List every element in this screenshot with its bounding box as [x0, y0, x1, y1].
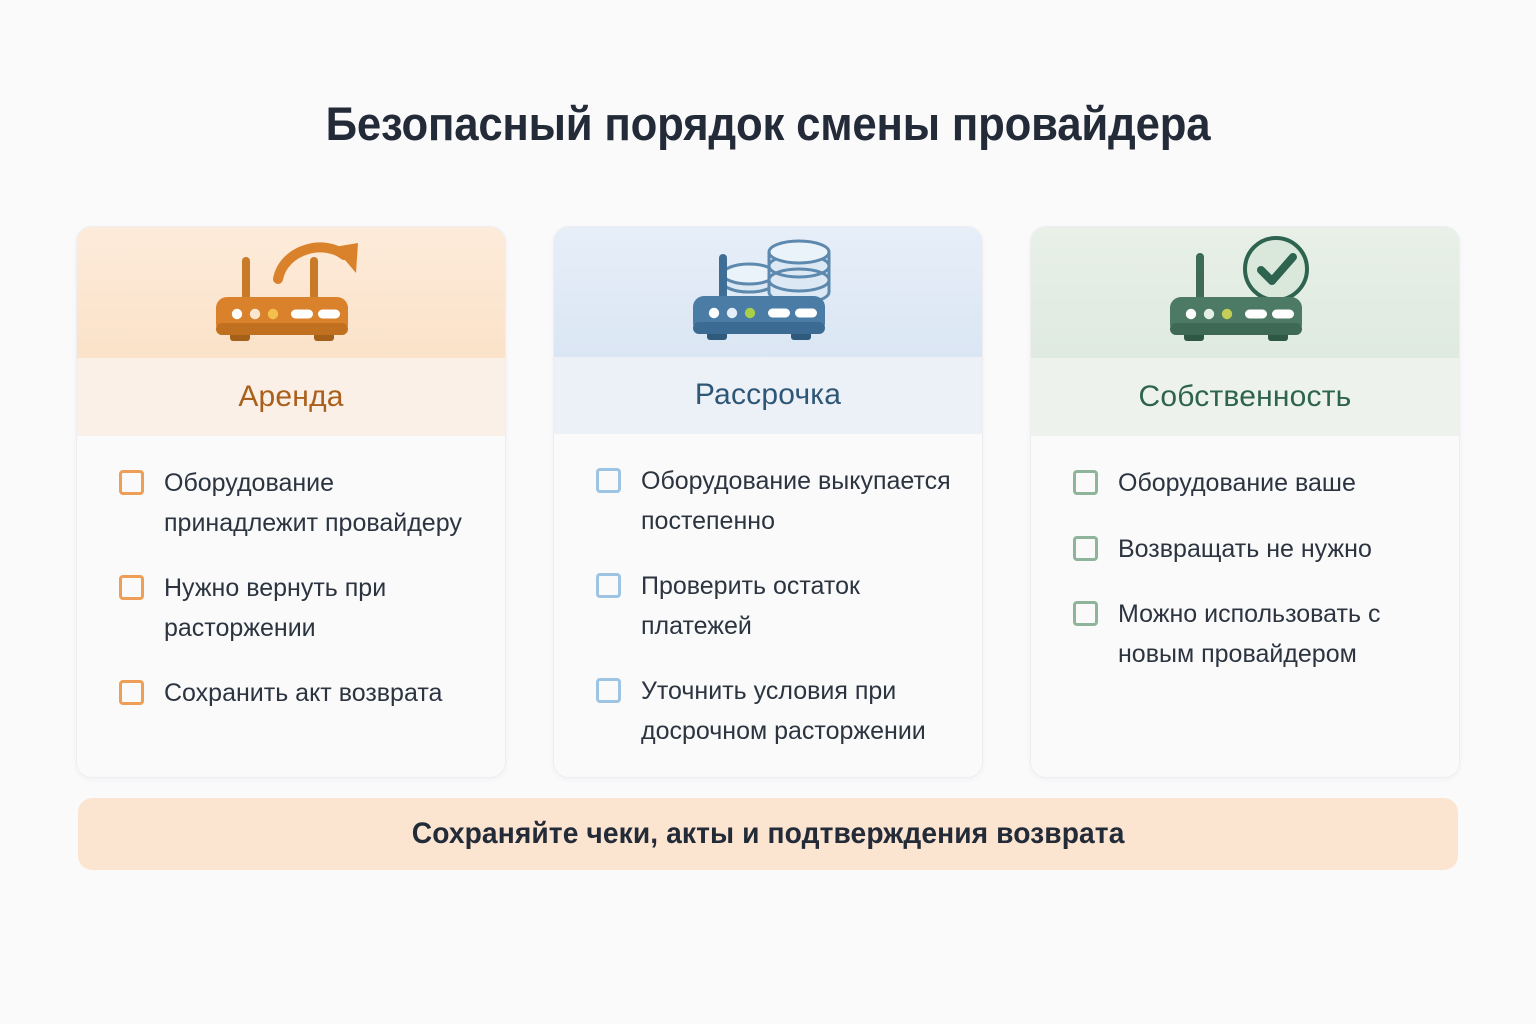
list-item-label: Сохранить акт возврата: [164, 674, 442, 714]
checkbox-icon[interactable]: [119, 680, 144, 705]
list-item[interactable]: Возвращать не нужно: [1073, 530, 1433, 570]
card-installment-list: Оборудование выкупается постепенно Прове…: [596, 462, 956, 751]
list-item-label: Возвращать не нужно: [1118, 530, 1372, 570]
card-installment-title: Рассрочка: [554, 357, 982, 434]
list-item-label: Можно использовать с новым провайдером: [1118, 595, 1433, 674]
list-item-label: Проверить остаток платежей: [641, 567, 956, 646]
checkbox-icon[interactable]: [596, 573, 621, 598]
list-item[interactable]: Можно использовать с новым провайдером: [1073, 595, 1433, 674]
card-installment-icon-area: [554, 227, 982, 357]
list-item-label: Нужно вернуть при расторжении: [164, 569, 479, 648]
checkbox-icon[interactable]: [1073, 536, 1098, 561]
card-ownership[interactable]: Собственность Оборудование ваше Возвраща…: [1030, 226, 1460, 778]
card-ownership-icon-area: [1031, 227, 1459, 358]
footer-banner-text: Сохраняйте чеки, акты и подтверждения во…: [412, 817, 1125, 851]
card-rent-title: Аренда: [77, 358, 505, 436]
card-rent-list: Оборудование принадлежит провайдеру Нужн…: [119, 464, 479, 714]
checkbox-icon[interactable]: [1073, 470, 1098, 495]
list-item[interactable]: Оборудование ваше: [1073, 464, 1433, 504]
list-item[interactable]: Нужно вернуть при расторжении: [119, 569, 479, 648]
card-ownership-title: Собственность: [1031, 358, 1459, 436]
checkbox-icon[interactable]: [596, 678, 621, 703]
cards-row: Аренда Оборудование принадлежит провайде…: [76, 226, 1460, 776]
list-item-label: Уточнить условия при досрочном расторжен…: [641, 672, 956, 751]
infographic-stage: Безопасный порядок смены провайдера: [0, 0, 1536, 1024]
list-item-label: Оборудование принадлежит провайдеру: [164, 464, 479, 543]
card-installment-body: Оборудование выкупается постепенно Прове…: [554, 434, 982, 777]
card-rent[interactable]: Аренда Оборудование принадлежит провайде…: [76, 226, 506, 778]
list-item-label: Оборудование ваше: [1118, 464, 1356, 504]
card-installment[interactable]: Рассрочка Оборудование выкупается постеп…: [553, 226, 983, 778]
list-item[interactable]: Уточнить условия при досрочном расторжен…: [596, 672, 956, 751]
page-title: Безопасный порядок смены провайдера: [54, 96, 1482, 151]
router-check-icon: [1160, 235, 1330, 351]
card-ownership-body: Оборудование ваше Возвращать не нужно Мо…: [1031, 436, 1459, 777]
list-item[interactable]: Оборудование принадлежит провайдеру: [119, 464, 479, 543]
router-return-arrow-icon: [206, 235, 376, 351]
card-rent-body: Оборудование принадлежит провайдеру Нужн…: [77, 436, 505, 777]
router-coins-icon: [683, 234, 853, 350]
card-rent-icon-area: [77, 227, 505, 358]
checkbox-icon[interactable]: [1073, 601, 1098, 626]
checkbox-icon[interactable]: [119, 575, 144, 600]
card-ownership-list: Оборудование ваше Возвращать не нужно Мо…: [1073, 464, 1433, 674]
checkbox-icon[interactable]: [596, 468, 621, 493]
list-item[interactable]: Проверить остаток платежей: [596, 567, 956, 646]
list-item[interactable]: Сохранить акт возврата: [119, 674, 479, 714]
list-item-label: Оборудование выкупается постепенно: [641, 462, 956, 541]
footer-banner: Сохраняйте чеки, акты и подтверждения во…: [78, 798, 1458, 870]
list-item[interactable]: Оборудование выкупается постепенно: [596, 462, 956, 541]
checkbox-icon[interactable]: [119, 470, 144, 495]
